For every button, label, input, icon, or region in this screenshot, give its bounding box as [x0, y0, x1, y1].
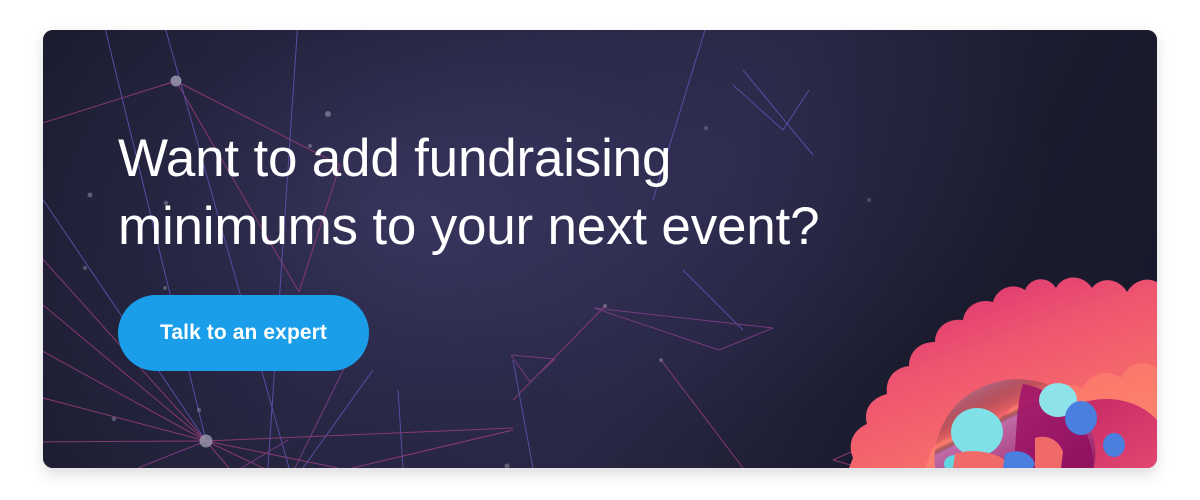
talk-to-an-expert-button[interactable]: Talk to an expert [118, 295, 369, 371]
creature-spot-blue-right [1103, 433, 1125, 457]
banner-content: Want to add fundraising minimums to your… [118, 125, 918, 371]
page-title: Want to add fundraising minimums to your… [118, 125, 918, 261]
creature-spot-blue-upper [1065, 401, 1097, 435]
creature-spot-cyan-large [951, 408, 1003, 456]
cta-banner: Want to add fundraising minimums to your… [43, 30, 1157, 468]
